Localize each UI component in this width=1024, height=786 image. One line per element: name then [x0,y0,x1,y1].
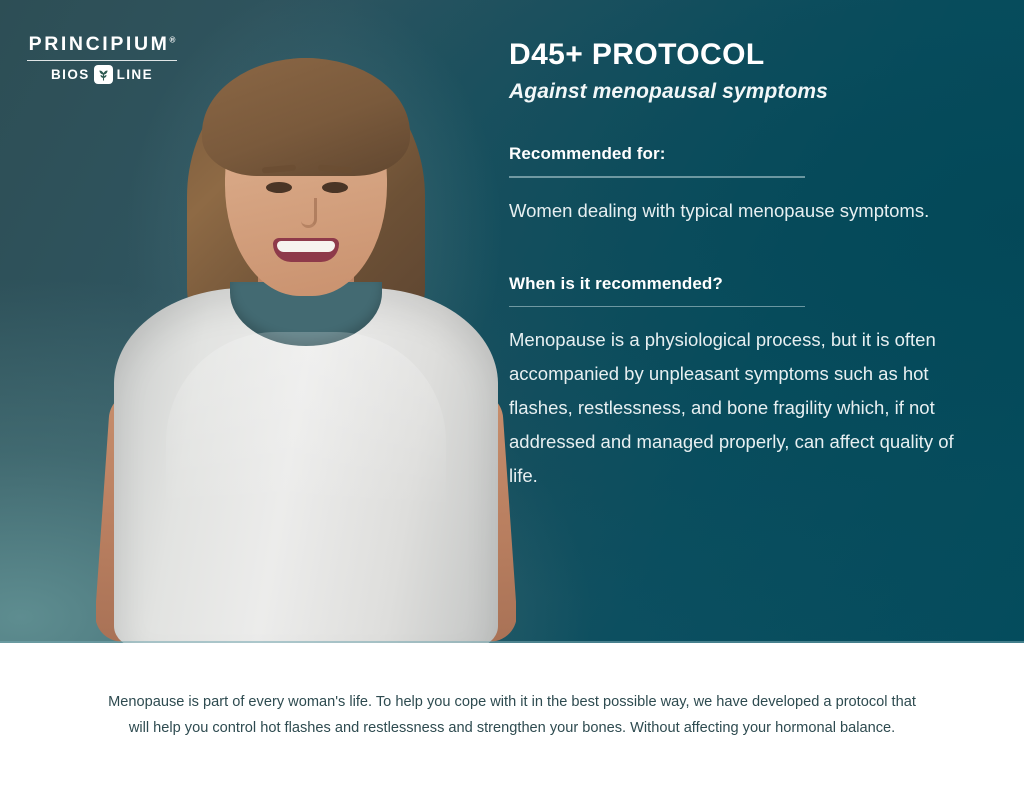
page-title: D45+ PROTOCOL [509,38,979,71]
tshirt [114,288,498,643]
footer-bar: Menopause is part of every woman's life.… [0,643,1024,786]
section-divider [509,176,805,178]
leaf-badge-icon [94,65,113,84]
brand-subline-left: BIOS [51,67,90,82]
section-body: Menopause is a physiological process, bu… [509,323,979,493]
hero-photo [96,0,516,643]
mouth [273,238,339,262]
brand-subline-right: LINE [117,67,153,82]
footer-text: Menopause is part of every woman's life.… [97,689,927,741]
brand-name-text: PRINCIPIUM [29,33,170,55]
section-recommended-for: Recommended for: Women dealing with typi… [509,144,979,228]
section-divider [509,306,805,308]
section-when-recommended: When is it recommended? Menopause is a p… [509,274,979,494]
section-heading: Recommended for: [509,144,979,164]
teeth [277,241,335,252]
eye-left [266,182,292,193]
section-body: Women dealing with typical menopause sym… [509,194,979,228]
brand-trademark: ® [169,36,175,45]
brand-logo: PRINCIPIUM® BIOS LINE [24,33,180,84]
page-subtitle: Against menopausal symptoms [509,80,979,104]
section-heading: When is it recommended? [509,274,979,294]
eye-right [322,182,348,193]
promo-page: PRINCIPIUM® BIOS LINE D45+ PR [0,0,1024,786]
brand-divider [27,60,177,61]
content-column: D45+ PROTOCOL Against menopausal symptom… [509,38,979,493]
hero-panel: PRINCIPIUM® BIOS LINE D45+ PR [0,0,1024,643]
nose [301,198,317,228]
brand-name: PRINCIPIUM® [24,33,180,56]
brand-subline: BIOS LINE [24,65,180,84]
